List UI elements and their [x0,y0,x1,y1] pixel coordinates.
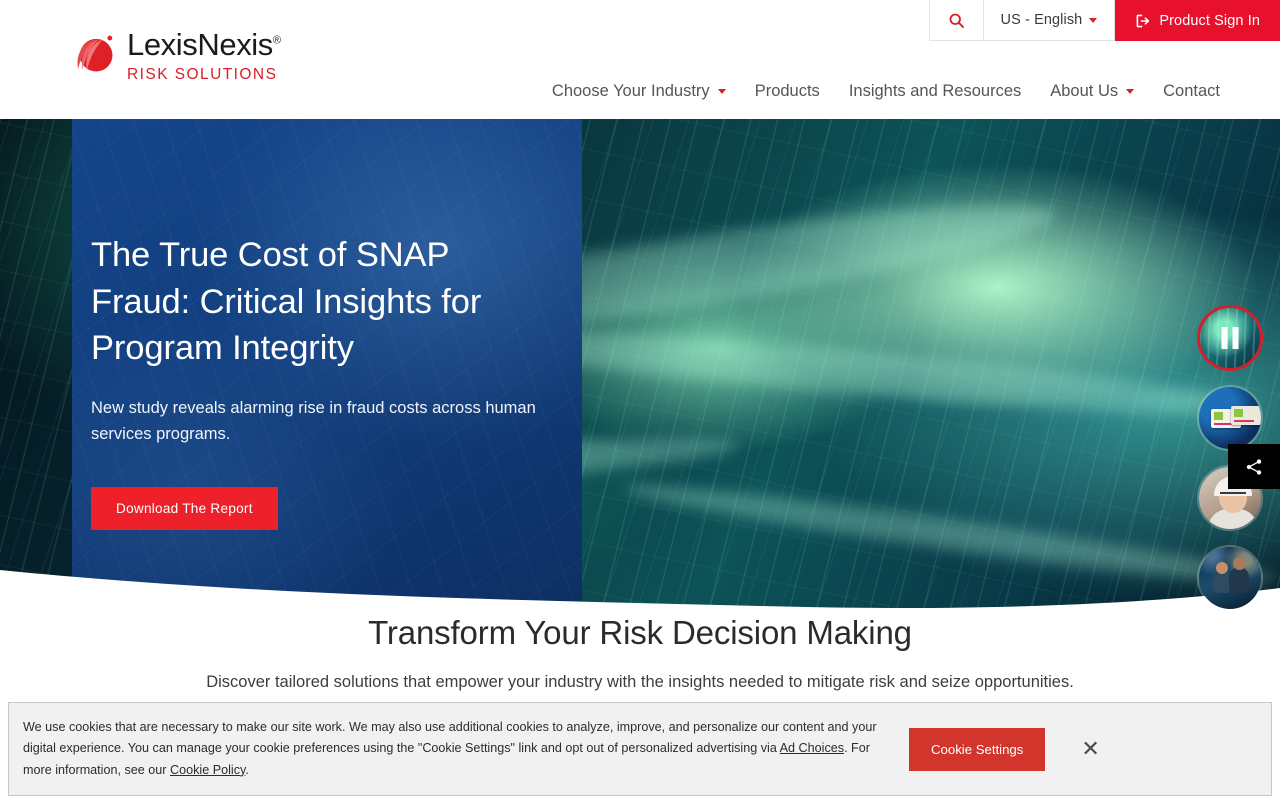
nav-label: Choose Your Industry [552,82,710,101]
ad-choices-link[interactable]: Ad Choices [780,741,844,755]
cookie-text-part3: . [245,763,249,777]
thumb-image [1199,547,1261,609]
product-sign-in-button[interactable]: Product Sign In [1115,0,1280,41]
nav-label: Contact [1163,82,1220,101]
transform-heading: Transform Your Risk Decision Making [0,614,1280,652]
nav-item-choose-your-industry[interactable]: Choose Your Industry [552,82,726,101]
transform-section: Transform Your Risk Decision Making Disc… [0,614,1280,692]
decorative-streak [621,473,1279,595]
product-sign-in-label: Product Sign In [1159,13,1260,29]
thumb-image [1199,387,1261,449]
close-icon[interactable]: ✕ [1075,736,1105,762]
page-root: US - English Product Sign In LexisNexis®… [0,0,1280,800]
hero-text-panel: The True Cost of SNAP Fraud: Critical In… [72,119,582,614]
cookie-settings-button[interactable]: Cookie Settings [909,728,1045,771]
chevron-down-icon [718,89,726,94]
brand-name: LexisNexis® [127,29,281,61]
nav-label: Products [755,82,820,101]
cookie-banner-text: We use cookies that are necessary to mak… [9,717,909,780]
cookie-text-part1: We use cookies that are necessary to mak… [23,720,877,755]
language-selector[interactable]: US - English [984,0,1116,41]
nav-item-about-us[interactable]: About Us [1050,82,1134,101]
main-navigation: Choose Your Industry Products Insights a… [552,82,1220,101]
cookie-banner-actions: Cookie Settings ✕ [909,728,1124,771]
pause-icon [1222,327,1239,349]
slide-thumb-id-cards[interactable] [1197,385,1263,451]
chevron-down-icon [1089,18,1097,23]
nav-label: About Us [1050,82,1118,101]
hero-subtitle: New study reveals alarming rise in fraud… [91,395,546,448]
registered-mark: ® [273,35,281,47]
download-the-report-button[interactable]: Download The Report [91,487,278,530]
hero-carousel: The True Cost of SNAP Fraud: Critical In… [0,119,1280,614]
nav-label: Insights and Resources [849,82,1021,101]
slide-thumb-snap-fraud[interactable] [1197,305,1263,371]
share-icon [1244,457,1264,477]
brand-text: LexisNexis® RISK SOLUTIONS [127,29,281,84]
cookie-consent-banner: We use cookies that are necessary to mak… [8,702,1272,796]
top-utility-bar: US - English Product Sign In [929,0,1280,41]
lexisnexis-logo-icon [72,31,116,75]
cookie-policy-link[interactable]: Cookie Policy [170,763,245,777]
share-button[interactable] [1228,444,1280,489]
nav-item-products[interactable]: Products [755,82,820,101]
brand-tagline: RISK SOLUTIONS [127,66,281,84]
nav-item-contact[interactable]: Contact [1163,82,1220,101]
language-label: US - English [1001,12,1083,28]
search-button[interactable] [929,0,984,41]
transform-subheading: Discover tailored solutions that empower… [0,673,1280,692]
slide-thumb-family[interactable] [1197,545,1263,611]
sign-in-icon [1135,13,1151,29]
chevron-down-icon [1126,89,1134,94]
brand-logo[interactable]: LexisNexis® RISK SOLUTIONS [72,29,281,84]
hero-content: The True Cost of SNAP Fraud: Critical In… [72,119,582,530]
hero-title: The True Cost of SNAP Fraud: Critical In… [91,232,546,372]
search-icon [948,12,965,29]
nav-item-insights-and-resources[interactable]: Insights and Resources [849,82,1021,101]
